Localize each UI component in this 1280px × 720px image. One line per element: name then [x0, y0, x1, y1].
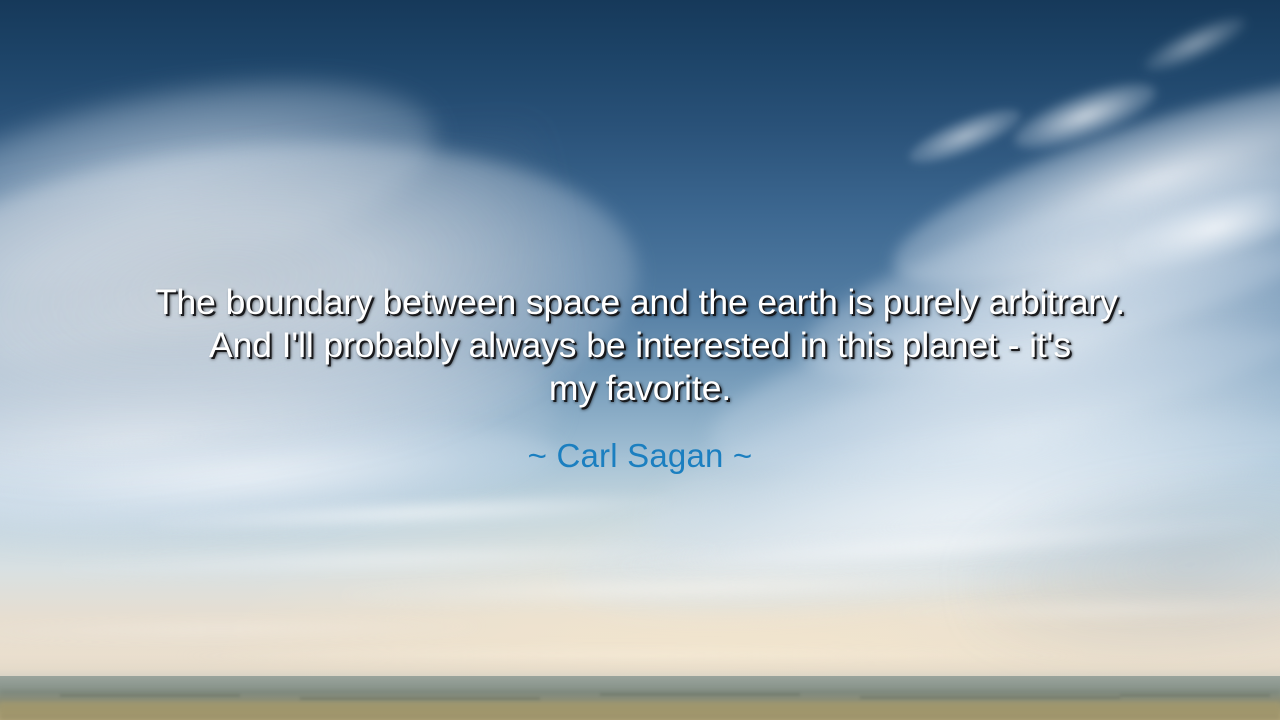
quote-attribution: ~ Carl Sagan ~	[0, 436, 1280, 476]
quote-text: The boundary between space and the earth…	[0, 281, 1280, 410]
text-overlay: The boundary between space and the earth…	[0, 0, 1280, 720]
quote-image: The boundary between space and the earth…	[0, 0, 1280, 720]
